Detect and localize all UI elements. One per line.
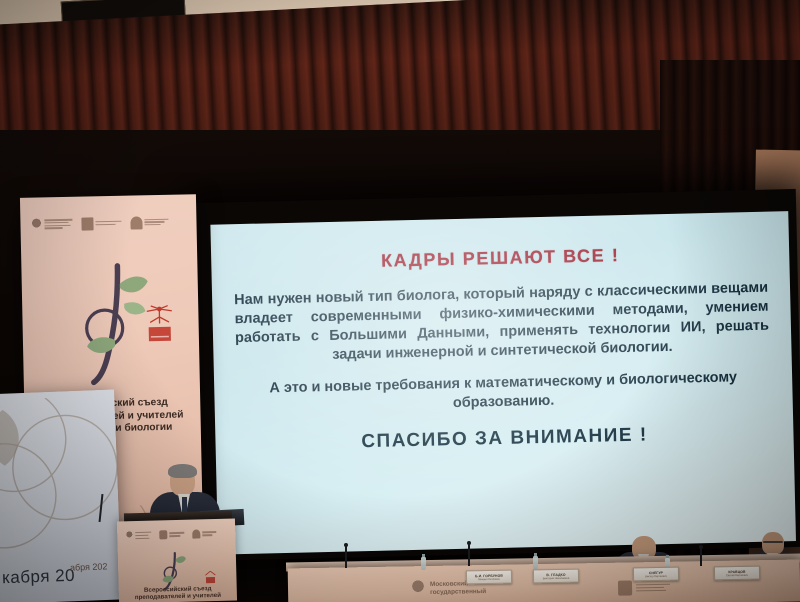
slide-paragraph-2: А это и новые требования к математическо… — [236, 368, 771, 418]
slide-closing-line: СПАСИБО ЗА ВНИМАНИЕ ! — [237, 422, 771, 457]
projection-screen-frame: КАДРЫ РЕШАЮТ ВСЕ ! Нам нужен новый тип б… — [192, 189, 800, 561]
slide-content: КАДРЫ РЕШАЮТ ВСЕ ! Нам нужен новый тип б… — [210, 211, 796, 555]
slide-title: КАДРЫ РЕШАЮТ ВСЕ ! — [233, 242, 767, 276]
minprosveshcheniya-logo — [130, 215, 168, 229]
water-bottle-2 — [533, 556, 538, 569]
speaker-hair — [168, 464, 197, 478]
podium-title: Всероссийский съезд преподавателей и учи… — [123, 585, 233, 602]
sprout-emblem-icon — [73, 257, 154, 387]
table-logo-line-1: Московский — [430, 580, 468, 588]
nameplate-2-subtitle: Виктория Николаевна — [543, 576, 570, 579]
table-microphone-1 — [345, 546, 347, 568]
red-emblem-stamp-icon — [144, 305, 175, 348]
banner-logo-row — [30, 212, 186, 233]
nameplate-3: СНЕГУР Виктор Сергеевич — [633, 567, 679, 582]
nameplate-4-subtitle: Сергей Сергеевич — [726, 573, 748, 576]
date-text-secondary: абря 202 — [70, 561, 108, 572]
nameplate-3-subtitle: Виктор Сергеевич — [645, 574, 667, 577]
nameplate-1-subtitle: Михаил Петрович — [478, 577, 500, 580]
nameplate-2: В. ГЛАДКО Виктория Николаевна — [533, 569, 579, 584]
table-ministry-logo — [618, 580, 670, 596]
seated-right-glasses — [763, 541, 783, 543]
date-text-primary: кабря 20 — [2, 566, 76, 589]
podium-minprosvet-logo — [192, 529, 216, 539]
projection-screen: КАДРЫ РЕШАЮТ ВСЕ ! Нам нужен новый тип б… — [210, 211, 796, 555]
podium-sprout-emblem-icon — [160, 550, 187, 591]
nameplate-4: КРАВЦОВ Сергей Сергеевич — [714, 566, 760, 581]
table-microphone-3 — [700, 548, 702, 566]
nameplate-1: Б.И. ГОРБУНОВ Михаил Петрович — [466, 570, 512, 585]
slide-paragraph-1: Нам нужен новый тип биолога, который нар… — [234, 279, 770, 367]
msu-logo — [30, 217, 72, 231]
table-logo-line-2: государственный — [430, 588, 486, 596]
water-bottle-1 — [421, 557, 426, 570]
branded-podium: Всероссийский съезд преподавателей и учи… — [117, 518, 237, 602]
minobrnauki-logo — [81, 216, 121, 230]
table-microphone-2 — [468, 544, 470, 566]
podium-minobrnauki-logo — [159, 530, 184, 540]
conference-photo: КАДРЫ РЕШАЮТ ВСЕ ! Нам нужен новый тип б… — [0, 0, 800, 602]
seated-right-head — [762, 532, 784, 555]
podium-msu-logo — [125, 531, 151, 541]
podium-red-stamp-icon — [204, 569, 216, 585]
podium-logo-row — [125, 529, 227, 541]
podium-title-line-2: преподавателей и учителей — [123, 592, 233, 602]
